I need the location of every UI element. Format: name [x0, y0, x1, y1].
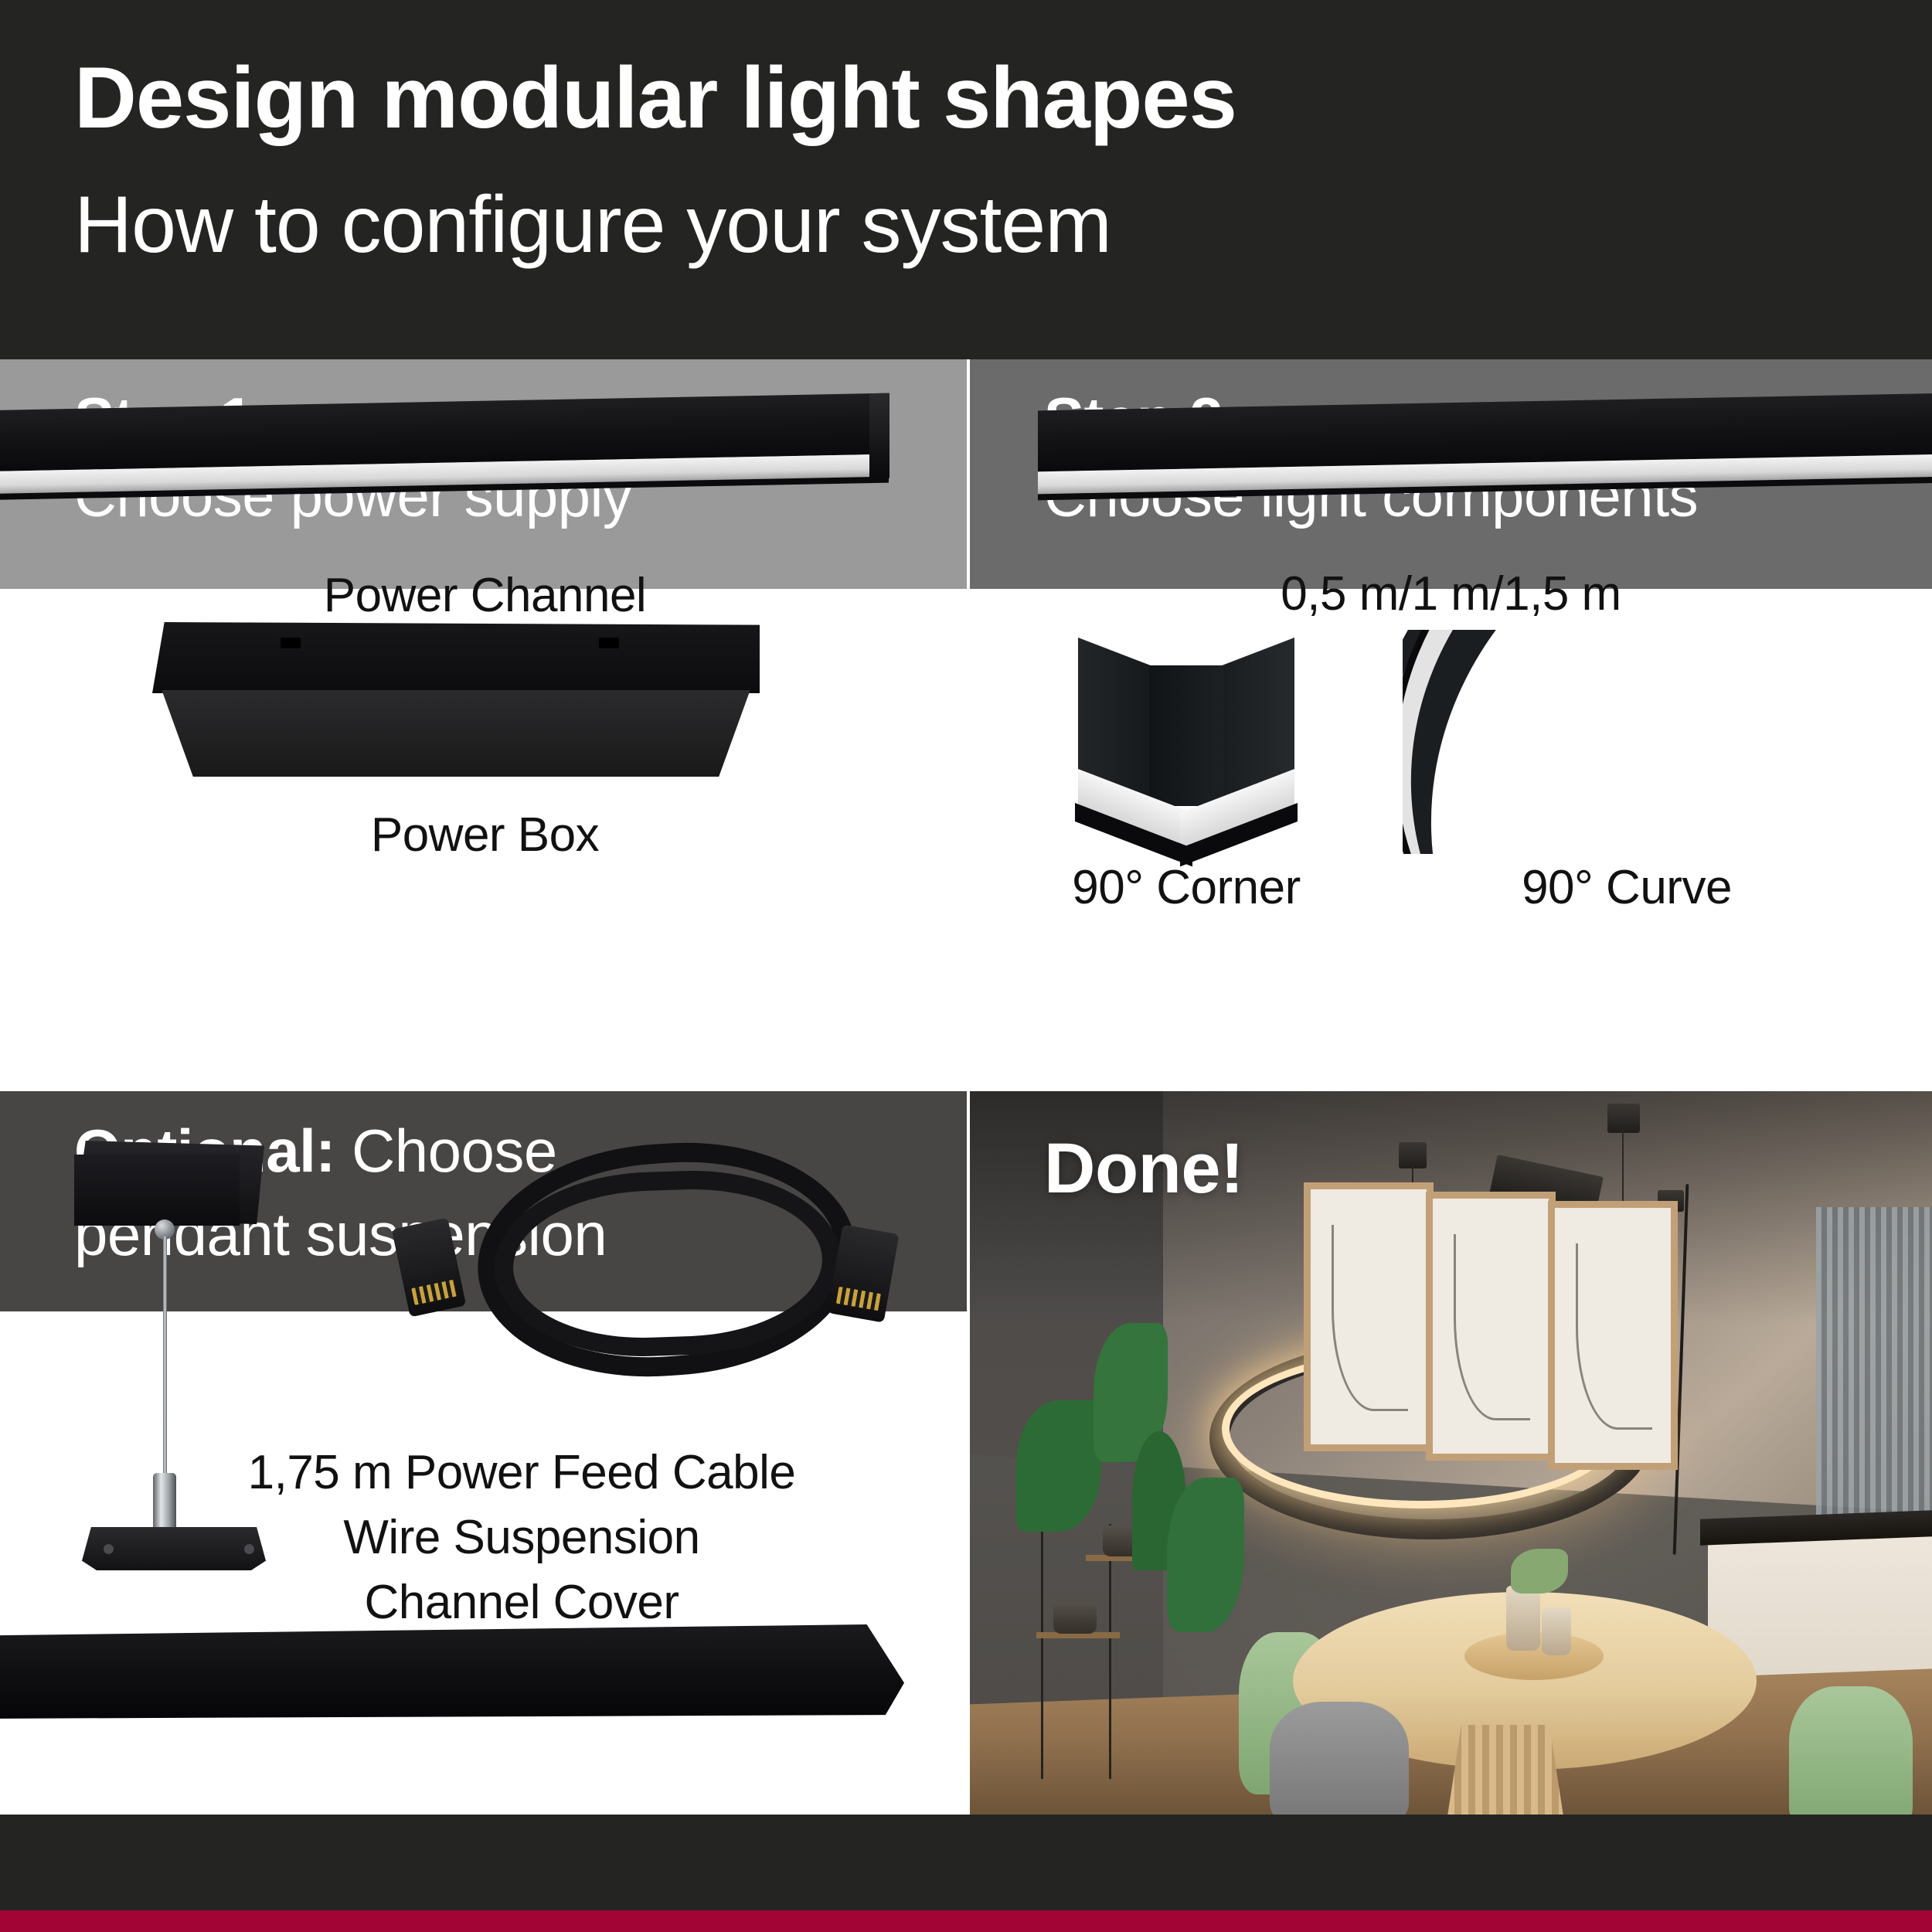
optional-panel: Optional: Choose pendant suspension 1,75…	[0, 1091, 970, 1815]
art-line-3	[1576, 1243, 1652, 1430]
power-box-caption: Power Box	[0, 808, 970, 862]
art-line-1	[1332, 1225, 1408, 1411]
suspension-canopy-face	[74, 1155, 240, 1226]
table-vase-2	[1542, 1607, 1571, 1655]
page-subtitle: How to configure your system	[74, 179, 1111, 271]
power-box-notch-right	[599, 638, 619, 648]
corner-90-caption: 90° Corner	[1009, 860, 1364, 915]
plant-stand-leg-2	[1109, 1524, 1111, 1779]
done-label: Done!	[1044, 1128, 1243, 1209]
cable-pins-right	[836, 1287, 882, 1311]
wall-art-frame-1	[1304, 1182, 1434, 1451]
channel-end-cap	[869, 393, 889, 478]
power-feed-cable-image	[379, 1138, 920, 1393]
cable-pins-left	[411, 1280, 457, 1305]
infographic-page: Design modular light shapes How to confi…	[0, 0, 1932, 1932]
ceiling-mount-1	[1399, 1142, 1427, 1168]
plant-foliage-4	[1167, 1478, 1244, 1632]
curve-rim	[1403, 630, 1913, 854]
cable-caption: 1,75 m Power Feed Cable	[155, 1445, 889, 1500]
suspension-screw-left	[104, 1544, 114, 1554]
power-box-image	[143, 622, 769, 777]
power-channel-caption: Power Channel	[0, 568, 970, 623]
corner-90-image	[1078, 638, 1294, 835]
step-2-panel: Step 2: Choose light components 0,5 m/1 …	[970, 359, 1932, 1091]
segment-length-caption: 0,5 m/1 m/1,5 m	[970, 566, 1932, 621]
power-box-top	[152, 622, 760, 693]
plant-foliage-1	[1016, 1400, 1101, 1532]
cable-plug-left	[392, 1218, 467, 1318]
table-vase-1	[1506, 1586, 1540, 1651]
wall-art-frame-3	[1548, 1201, 1678, 1470]
art-line-2	[1454, 1234, 1530, 1420]
corner-center-face	[1149, 665, 1223, 806]
page-title: Design modular light shapes	[74, 48, 1236, 148]
suspension-wire	[163, 1236, 167, 1478]
dining-table-base	[1447, 1725, 1563, 1815]
page-header: Design modular light shapes How to confi…	[0, 0, 1932, 359]
power-box-front	[143, 690, 769, 777]
light-segment-image	[1038, 393, 1932, 496]
table-greenery	[1511, 1549, 1568, 1594]
chair-grey	[1270, 1702, 1409, 1815]
wall-art-frame-2	[1426, 1192, 1556, 1461]
chair-green-right	[1789, 1686, 1913, 1815]
power-box-notch-left	[281, 638, 301, 648]
step-1-panel: Step 1: Choose power supply Power Channe…	[0, 359, 970, 1091]
curve-90-image	[1403, 630, 1913, 854]
panel-divider-vertical	[967, 359, 970, 1815]
footer-bar	[0, 1815, 1932, 1910]
ceiling-mount-2	[1607, 1104, 1640, 1133]
power-channel-image	[0, 393, 889, 496]
channel-cover-caption: Channel Cover	[155, 1575, 889, 1630]
wire-suspension-caption: Wire Suspension	[155, 1510, 889, 1565]
curve-90-caption: 90° Curve	[1449, 860, 1804, 915]
channel-cover-image	[0, 1624, 904, 1719]
plant-pot-1	[1053, 1601, 1097, 1634]
done-panel: Done!	[970, 1091, 1932, 1815]
plant-stand-leg-1	[1041, 1524, 1043, 1779]
footer-accent-bar	[0, 1910, 1932, 1932]
